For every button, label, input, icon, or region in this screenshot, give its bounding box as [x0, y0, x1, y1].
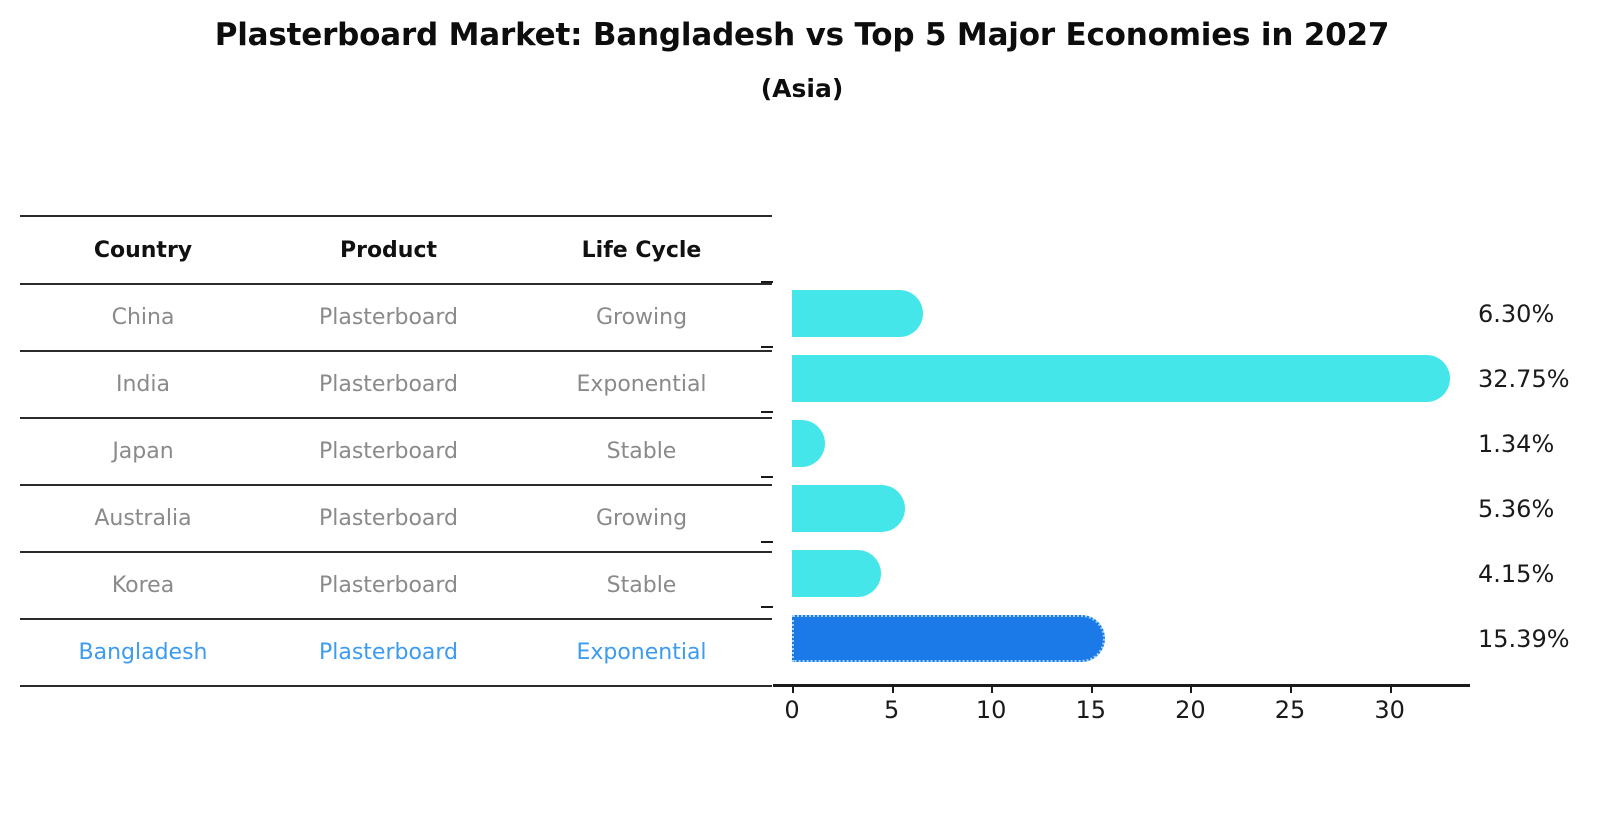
- cell-product: Plasterboard: [266, 485, 511, 552]
- table-row: JapanPlasterboardStable: [20, 418, 772, 485]
- x-axis-tick: [892, 684, 894, 693]
- chart-subtitle: (Asia): [0, 66, 1604, 112]
- bar-india: [792, 355, 1450, 402]
- cell-product: Plasterboard: [266, 418, 511, 485]
- country-matrix-table: Country Product Life Cycle ChinaPlasterb…: [20, 215, 772, 687]
- cell-country: China: [20, 284, 266, 351]
- page-title: Plasterboard Market: Bangladesh vs Top 5…: [0, 12, 1604, 58]
- column-header-country: Country: [20, 216, 266, 284]
- bar-value-label: 4.15%: [1478, 562, 1554, 586]
- bar-value-label: 6.30%: [1478, 302, 1554, 326]
- bar-japan: [792, 420, 825, 467]
- table-row: AustraliaPlasterboardGrowing: [20, 485, 772, 552]
- table-row: IndiaPlasterboardExponential: [20, 351, 772, 418]
- cell-product: Plasterboard: [266, 351, 511, 418]
- x-axis-tick-label: 5: [884, 696, 899, 724]
- column-header-life-cycle: Life Cycle: [511, 216, 772, 284]
- chart-title-block: Plasterboard Market: Bangladesh vs Top 5…: [0, 12, 1604, 112]
- cell-life-cycle: Stable: [511, 418, 772, 485]
- cell-life-cycle: Exponential: [511, 619, 772, 686]
- bar-bangladesh: [792, 615, 1105, 662]
- table-row: KoreaPlasterboardStable: [20, 552, 772, 619]
- cell-country: India: [20, 351, 266, 418]
- cell-product: Plasterboard: [266, 619, 511, 686]
- bar-value-label: 15.39%: [1478, 627, 1570, 651]
- cell-country: Korea: [20, 552, 266, 619]
- x-axis-tick: [1091, 684, 1093, 693]
- cell-life-cycle: Exponential: [511, 351, 772, 418]
- x-axis-tick-label: 0: [784, 696, 799, 724]
- cell-product: Plasterboard: [266, 284, 511, 351]
- x-axis-line: [773, 684, 1470, 687]
- bar-china: [792, 290, 923, 337]
- x-axis-tick: [1190, 684, 1192, 693]
- bar-australia: [792, 485, 905, 532]
- x-axis-tick-label: 25: [1275, 696, 1306, 724]
- cell-country: Bangladesh: [20, 619, 266, 686]
- cell-country: Australia: [20, 485, 266, 552]
- table-row: BangladeshPlasterboardExponential: [20, 619, 772, 686]
- cell-product: Plasterboard: [266, 552, 511, 619]
- x-axis-tick: [991, 684, 993, 693]
- x-axis-tick-label: 15: [1076, 696, 1107, 724]
- x-axis-tick-label: 20: [1175, 696, 1206, 724]
- table-header-row: Country Product Life Cycle: [20, 216, 772, 284]
- chart-figure: Plasterboard Market: Bangladesh vs Top 5…: [0, 0, 1604, 823]
- cell-life-cycle: Stable: [511, 552, 772, 619]
- x-axis-tick-label: 30: [1374, 696, 1405, 724]
- cell-life-cycle: Growing: [511, 284, 772, 351]
- column-header-product: Product: [266, 216, 511, 284]
- table-row: ChinaPlasterboardGrowing: [20, 284, 772, 351]
- bar-value-label: 5.36%: [1478, 497, 1554, 521]
- x-axis-tick: [792, 684, 794, 693]
- bar-korea: [792, 550, 881, 597]
- bar-value-label: 1.34%: [1478, 432, 1554, 456]
- bar-value-label: 32.75%: [1478, 367, 1570, 391]
- cell-country: Japan: [20, 418, 266, 485]
- x-axis-tick: [1290, 684, 1292, 693]
- cell-life-cycle: Growing: [511, 485, 772, 552]
- x-axis-tick: [1390, 684, 1392, 693]
- x-axis-tick-label: 10: [976, 696, 1007, 724]
